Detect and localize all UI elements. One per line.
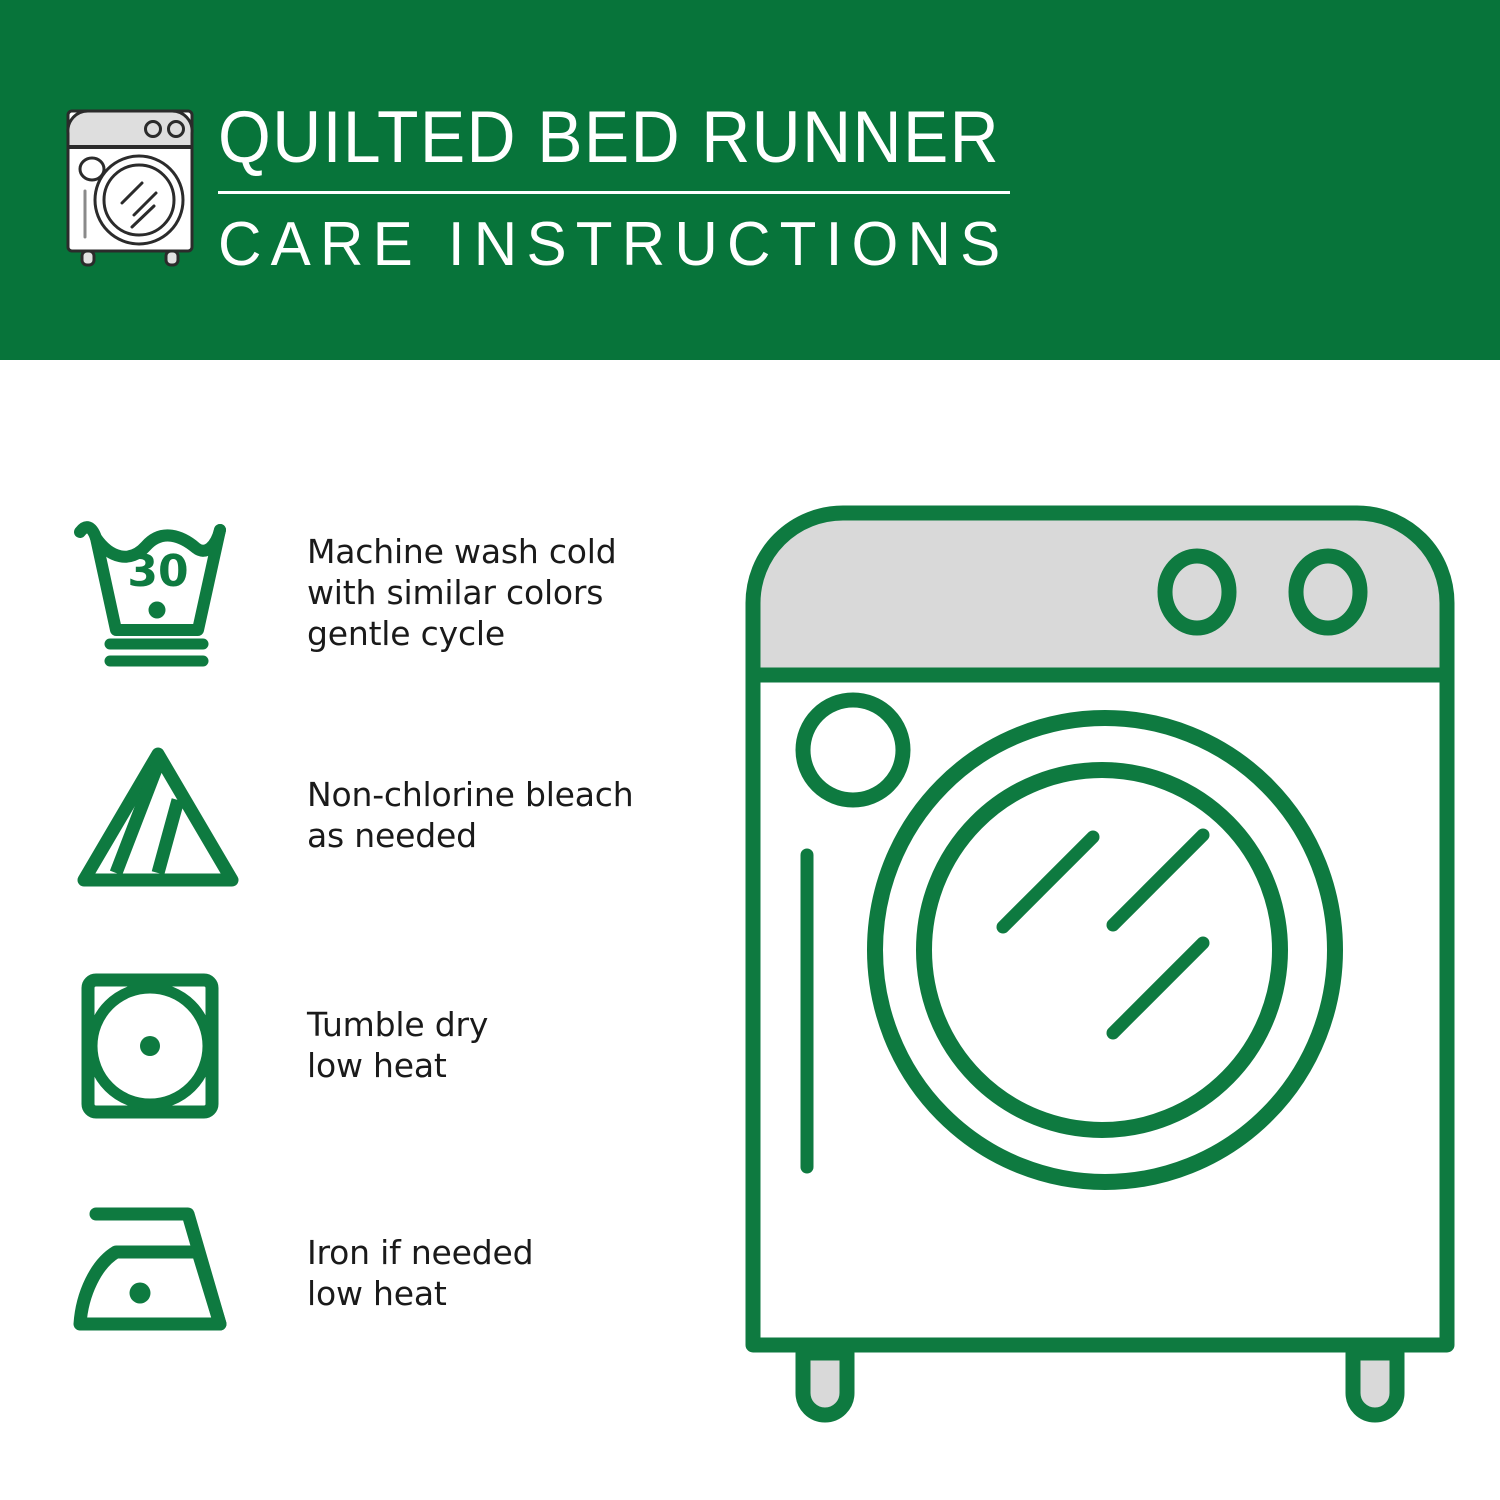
non-chlorine-bleach-triangle-icon	[70, 740, 245, 890]
care-instructions-page: QUILTED BED RUNNER CARE INSTRUCTIONS	[0, 0, 1500, 1500]
wash-temperature-value: 30	[127, 546, 188, 597]
machine-leg-right	[1353, 1353, 1397, 1415]
page-title: QUILTED BED RUNNER	[218, 98, 962, 178]
tumble-dry-low-heat-icon	[70, 970, 245, 1120]
page-subtitle: CARE INSTRUCTIONS	[218, 210, 994, 280]
drum-outer-ring	[875, 718, 1335, 1182]
care-row: Non-chlorine bleach as needed	[70, 727, 690, 902]
care-label: Tumble dry low heat	[307, 1004, 488, 1086]
drum-motion-lines	[1003, 835, 1203, 1033]
wash-tub-30-gentle-icon: 30	[70, 518, 245, 668]
control-panel	[753, 513, 1447, 675]
header-band: QUILTED BED RUNNER CARE INSTRUCTIONS	[0, 0, 1500, 360]
header-divider	[218, 191, 1010, 194]
care-label: Iron if needed low heat	[307, 1232, 533, 1314]
washing-machine-illustration	[735, 495, 1465, 1425]
dispenser-knob	[803, 700, 903, 800]
machine-leg-left	[803, 1353, 847, 1415]
header-text-block: QUILTED BED RUNNER CARE INSTRUCTIONS	[218, 98, 1018, 280]
care-row: Iron if needed low heat	[70, 1195, 690, 1350]
drum-inner-ring	[924, 770, 1280, 1130]
care-label: Non-chlorine bleach as needed	[307, 774, 633, 856]
iron-low-heat-icon	[70, 1198, 245, 1348]
care-label: Machine wash cold with similar colors ge…	[307, 531, 617, 654]
washing-machine-icon	[60, 103, 200, 268]
care-row: 30 Machine wash cold with similar colors…	[70, 505, 690, 680]
care-row: Tumble dry low heat	[70, 965, 690, 1125]
